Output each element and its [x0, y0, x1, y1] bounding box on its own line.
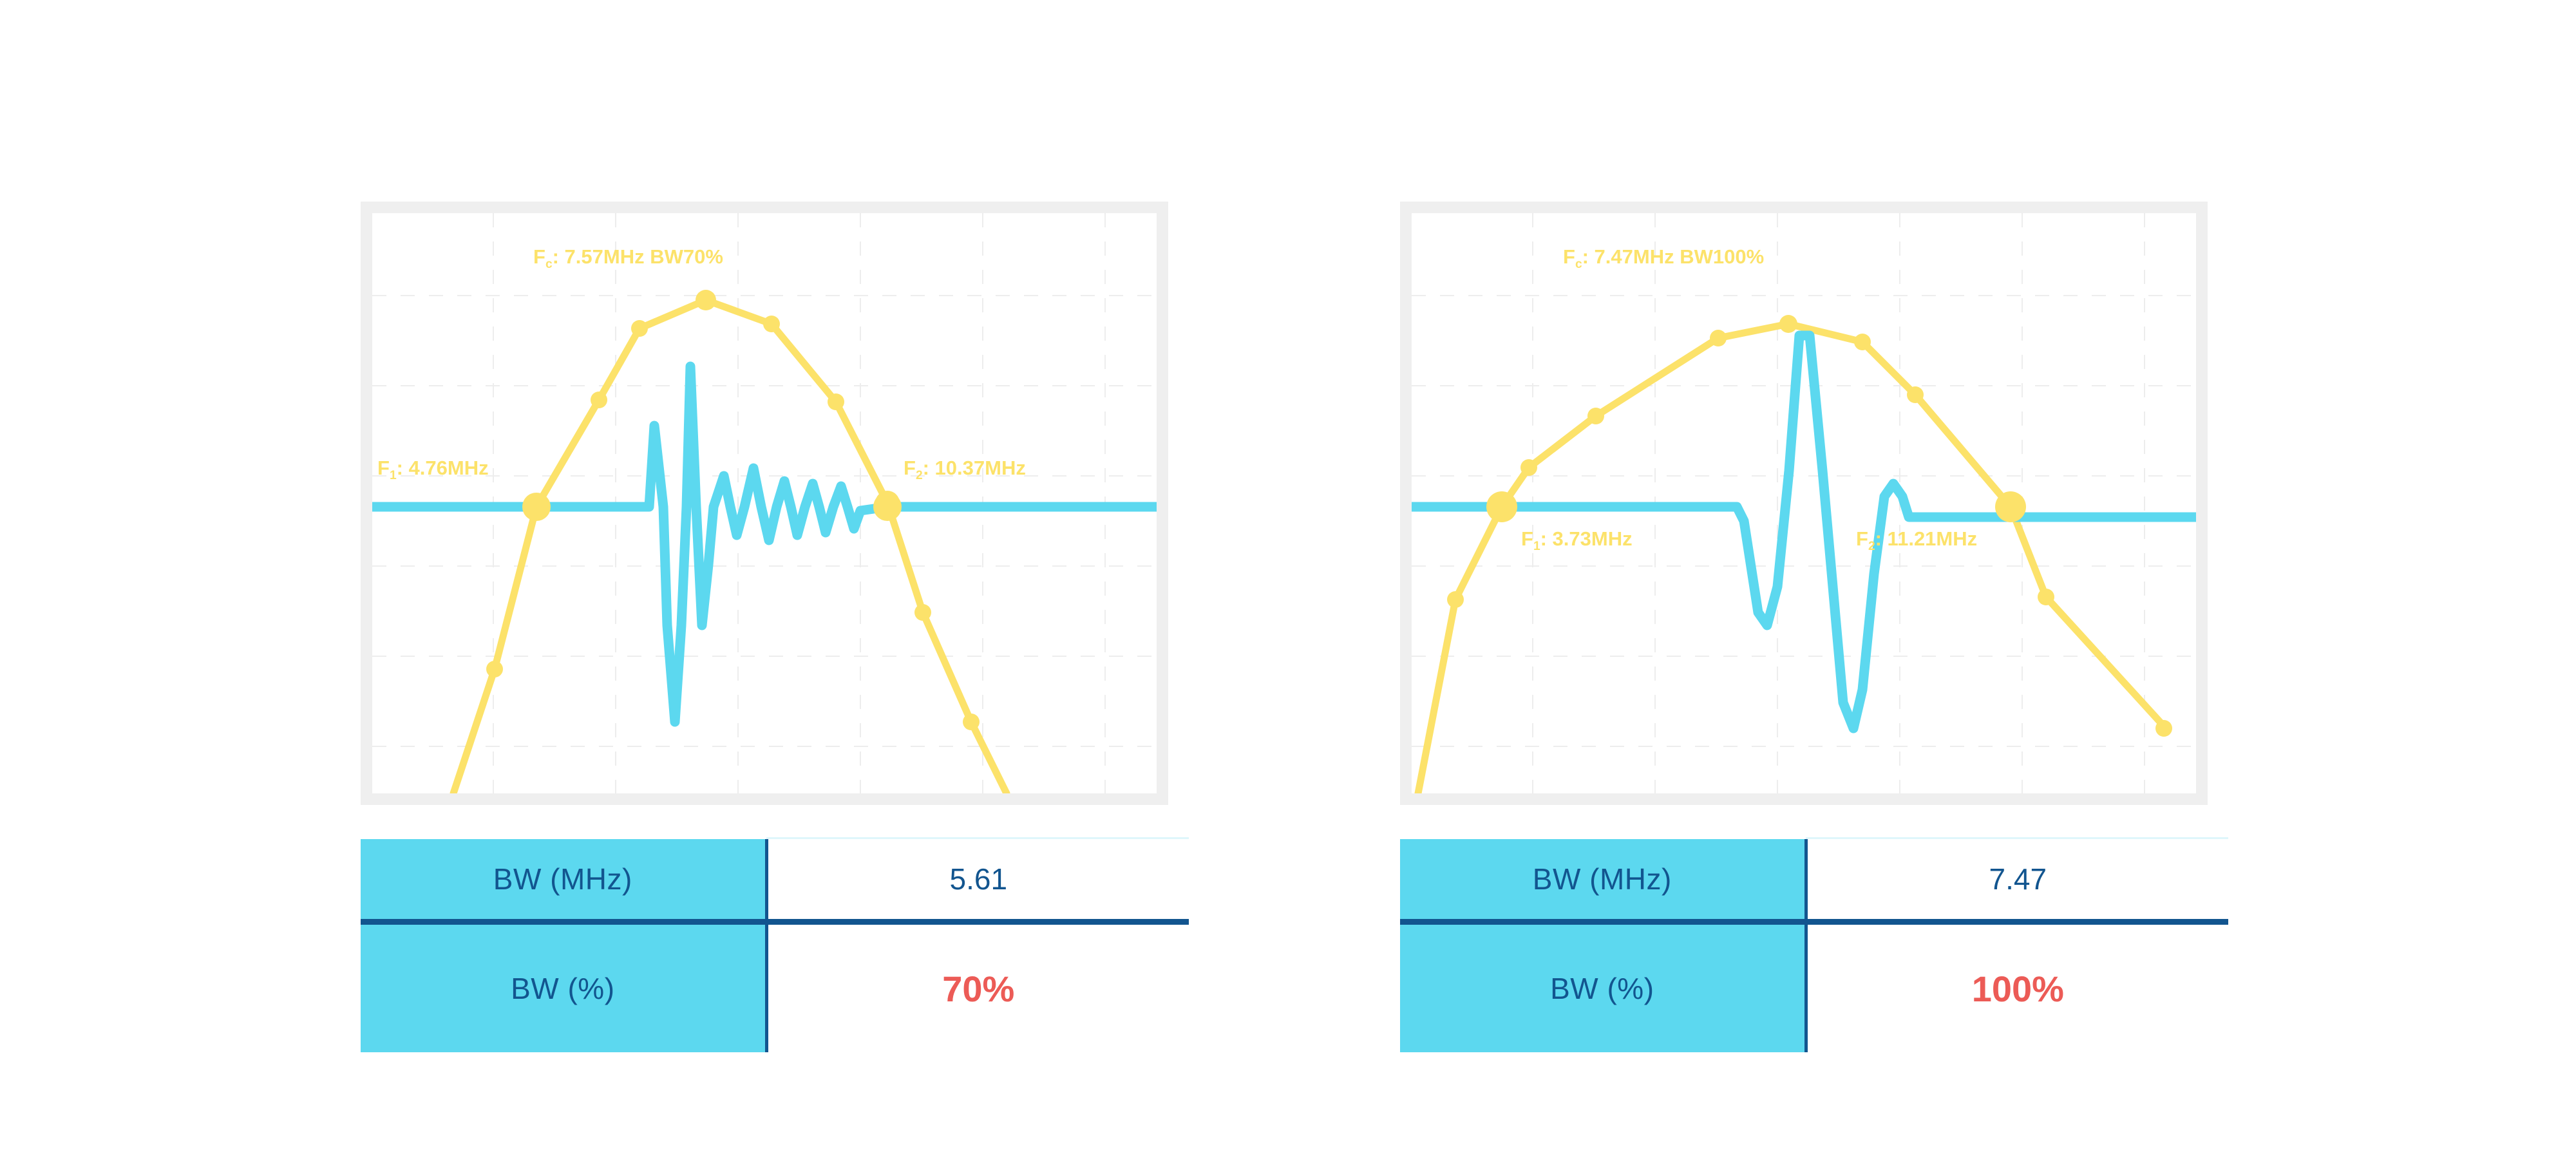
fc-label-right: Fc: 7.47MHz BW100% [1563, 245, 1764, 272]
table-row: BW (%) 70% [361, 922, 1189, 1053]
f1-subscript: 1 [390, 469, 397, 482]
f1-label-right: F1: 3.73MHz [1521, 527, 1633, 554]
bw-table-left: BW (MHz) 5.61 BW (%) 70% [361, 839, 1189, 1046]
f1-prefix: F [377, 457, 390, 479]
chart-panel-right: Fc: 7.47MHz BW100% F1: 3.73MHz F2: 11.21… [1400, 202, 2208, 805]
chart-svg-left [372, 213, 1157, 793]
bw-mhz-label: BW (MHz) [1400, 839, 1806, 922]
f1-text: : 4.76MHz [397, 457, 489, 479]
spectrum-curve-left [453, 300, 1007, 793]
fc-text: : 7.57MHz BW70% [553, 245, 723, 268]
f2-subscript: 2 [1868, 540, 1875, 553]
f2-text: : 11.21MHz [1875, 527, 1978, 550]
panel-right: Fc: 7.47MHz BW100% F1: 3.73MHz F2: 11.21… [1385, 0, 2576, 1154]
table-hairline [1806, 837, 2228, 839]
f1-subscript: 1 [1533, 540, 1540, 553]
chart-panel-left: Fc: 7.57MHz BW70% F1: 4.76MHz F2: 10.37M… [361, 202, 1168, 805]
bw-pct-label: BW (%) [361, 922, 766, 1053]
bw-mhz-value: 5.61 [766, 839, 1189, 922]
chart-svg-right [1412, 213, 2196, 793]
bw-pct-value: 100% [1806, 922, 2228, 1053]
f2-marker-right [1995, 491, 2026, 522]
f2-label-left: F2: 10.37MHz [904, 457, 1026, 483]
f2-label-right: F2: 11.21MHz [1856, 527, 1977, 554]
table-row: BW (MHz) 5.61 [361, 839, 1189, 922]
fc-subscript: c [545, 258, 553, 271]
plot-area-left: Fc: 7.57MHz BW70% F1: 4.76MHz F2: 10.37M… [372, 213, 1157, 793]
plot-area-right: Fc: 7.47MHz BW100% F1: 3.73MHz F2: 11.21… [1412, 213, 2196, 793]
fc-prefix: F [1563, 245, 1575, 268]
table-row: BW (%) 100% [1400, 922, 2228, 1053]
fc-text: : 7.47MHz BW100% [1582, 245, 1765, 268]
bw-mhz-value: 7.47 [1806, 839, 2228, 922]
f2-marker-left [873, 493, 902, 521]
f1-marker-left [522, 493, 551, 521]
fc-prefix: F [533, 245, 545, 268]
fc-subscript: c [1575, 258, 1582, 271]
f2-subscript: 2 [916, 469, 923, 482]
fc-label-left: Fc: 7.57MHz BW70% [533, 245, 723, 272]
bw-pct-label: BW (%) [1400, 922, 1806, 1053]
f1-prefix: F [1521, 527, 1533, 550]
table-row: BW (MHz) 7.47 [1400, 839, 2228, 922]
f1-text: : 3.73MHz [1540, 527, 1633, 550]
f2-prefix: F [904, 457, 916, 479]
figure-canvas: Fc: 7.57MHz BW70% F1: 4.76MHz F2: 10.37M… [0, 0, 2576, 1154]
table-hairline [766, 837, 1189, 839]
f2-text: : 10.37MHz [923, 457, 1026, 479]
f1-marker-right [1486, 491, 1517, 522]
bw-table-right: BW (MHz) 7.47 BW (%) 100% [1400, 839, 2228, 1046]
f1-label-left: F1: 4.76MHz [377, 457, 489, 483]
f2-prefix: F [1856, 527, 1868, 550]
bw-mhz-label: BW (MHz) [361, 839, 766, 922]
bw-pct-value: 70% [766, 922, 1189, 1053]
